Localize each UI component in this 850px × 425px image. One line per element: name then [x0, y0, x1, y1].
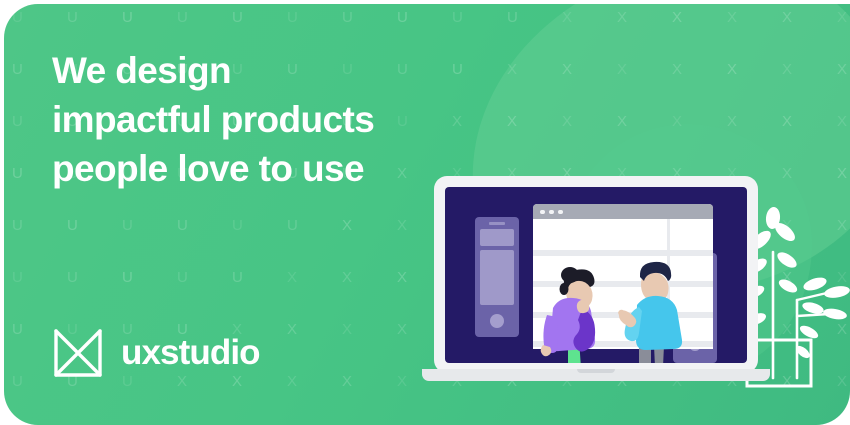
brand-name: uxstudio: [121, 333, 260, 373]
phone-mockup-left: [475, 217, 519, 337]
laptop-base-notch: [577, 369, 615, 373]
pattern-glyph-u: U: [67, 10, 78, 25]
pattern-glyph-x: X: [342, 322, 352, 337]
laptop-lid: [434, 176, 758, 373]
pattern-glyph-u: U: [12, 62, 23, 77]
pattern-glyph-u: U: [67, 270, 78, 285]
green-card-background: UUUUUUUUUUXXXXXXUUUUUUUUUXXXXXXXUUUUUUUU…: [4, 4, 850, 425]
brand-logo[interactable]: uxstudio: [52, 327, 260, 379]
marketing-banner: UUUUUUUUUUXXXXXXUUUUUUUUUXXXXXXXUUUUUUUU…: [0, 0, 850, 425]
pattern-glyph-u: U: [452, 10, 463, 25]
pattern-glyph-u: U: [122, 218, 133, 233]
pattern-glyph-u: U: [507, 10, 518, 25]
pattern-glyph-u: U: [177, 10, 188, 25]
browser-titlebar: [533, 204, 713, 219]
pattern-glyph-u: U: [342, 10, 353, 25]
pattern-glyph-u: U: [397, 10, 408, 25]
pattern-glyph-x: X: [287, 374, 297, 389]
laptop-screen: [445, 187, 747, 363]
pattern-glyph-u: U: [12, 114, 23, 129]
pattern-glyph-u: U: [12, 322, 23, 337]
pattern-glyph-u: U: [177, 218, 188, 233]
pattern-glyph-x: X: [397, 218, 407, 233]
person-woman-designer: [537, 253, 609, 363]
pattern-glyph-u: U: [232, 270, 243, 285]
pattern-glyph-x: X: [342, 270, 352, 285]
pattern-glyph-x: X: [287, 270, 297, 285]
pattern-glyph-u: U: [122, 270, 133, 285]
pattern-glyph-u: U: [177, 270, 188, 285]
pattern-glyph-u: U: [287, 10, 298, 25]
browser-dot-2: [549, 210, 554, 215]
pattern-glyph-u: U: [287, 218, 298, 233]
pattern-glyph-u: U: [12, 270, 23, 285]
pattern-glyph-x: X: [287, 322, 297, 337]
pattern-glyph-x: X: [397, 322, 407, 337]
page-title: We design impactful products people love…: [52, 46, 472, 194]
browser-dot-1: [540, 210, 545, 215]
pattern-glyph-u: U: [12, 374, 23, 389]
pattern-glyph-x: X: [342, 218, 352, 233]
uxstudio-bowtie-icon: [52, 327, 104, 379]
pattern-glyph-u: U: [122, 10, 133, 25]
browser-dot-3: [558, 210, 563, 215]
pattern-glyph-u: U: [12, 10, 23, 25]
pattern-glyph-u: U: [67, 218, 78, 233]
pattern-glyph-x: X: [342, 374, 352, 389]
pattern-glyph-x: X: [397, 270, 407, 285]
laptop-illustration: [422, 176, 770, 388]
pattern-glyph-u: U: [232, 10, 243, 25]
pattern-glyph-u: U: [232, 218, 243, 233]
pattern-glyph-u: U: [12, 166, 23, 181]
person-man-presenter: [617, 249, 695, 363]
pattern-glyph-x: X: [397, 374, 407, 389]
pattern-glyph-u: U: [12, 218, 23, 233]
